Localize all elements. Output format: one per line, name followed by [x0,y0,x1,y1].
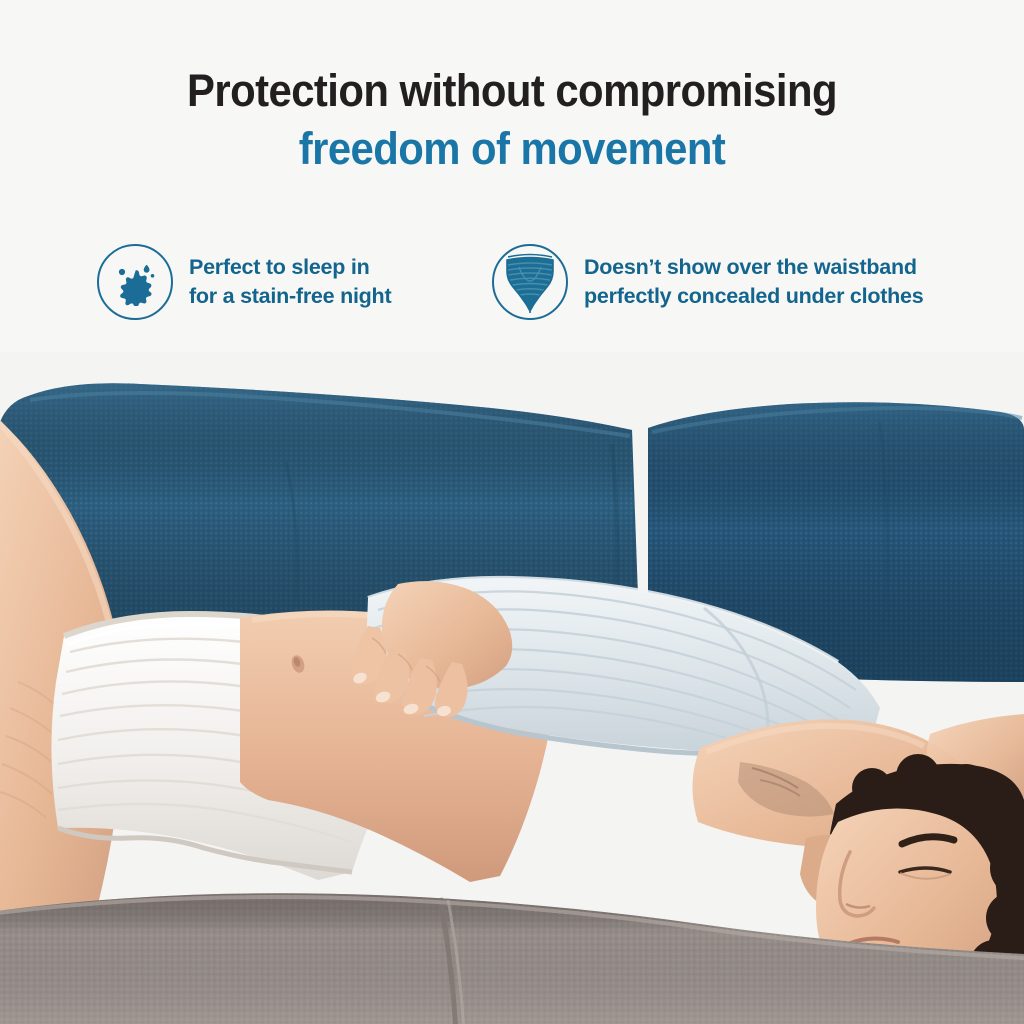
feature-line-1: Perfect to sleep in [189,253,391,282]
feature-text-sleep: Perfect to sleep in for a stain-free nig… [189,253,391,310]
lifestyle-photo [0,352,1024,1024]
headline-line-1: Protection without compromising [36,68,988,113]
feature-text-concealed: Doesn’t show over the waistband perfectl… [584,253,923,310]
feature-list: Perfect to sleep in for a stain-free nig… [0,238,1024,348]
feature-line-1: Doesn’t show over the waistband [584,253,923,282]
underwear-brief-icon [492,244,568,320]
promotional-banner: Protection without compromising freedom … [0,0,1024,1024]
feature-item-concealed: Doesn’t show over the waistband perfectl… [492,244,923,320]
page-title: Protection without compromising freedom … [0,68,1024,171]
headline-line-2: freedom of movement [36,126,988,171]
feature-item-sleep: Perfect to sleep in for a stain-free nig… [97,244,391,320]
feature-line-2: perfectly concealed under clothes [584,282,923,311]
splash-icon [97,244,173,320]
feature-line-2: for a stain-free night [189,282,391,311]
